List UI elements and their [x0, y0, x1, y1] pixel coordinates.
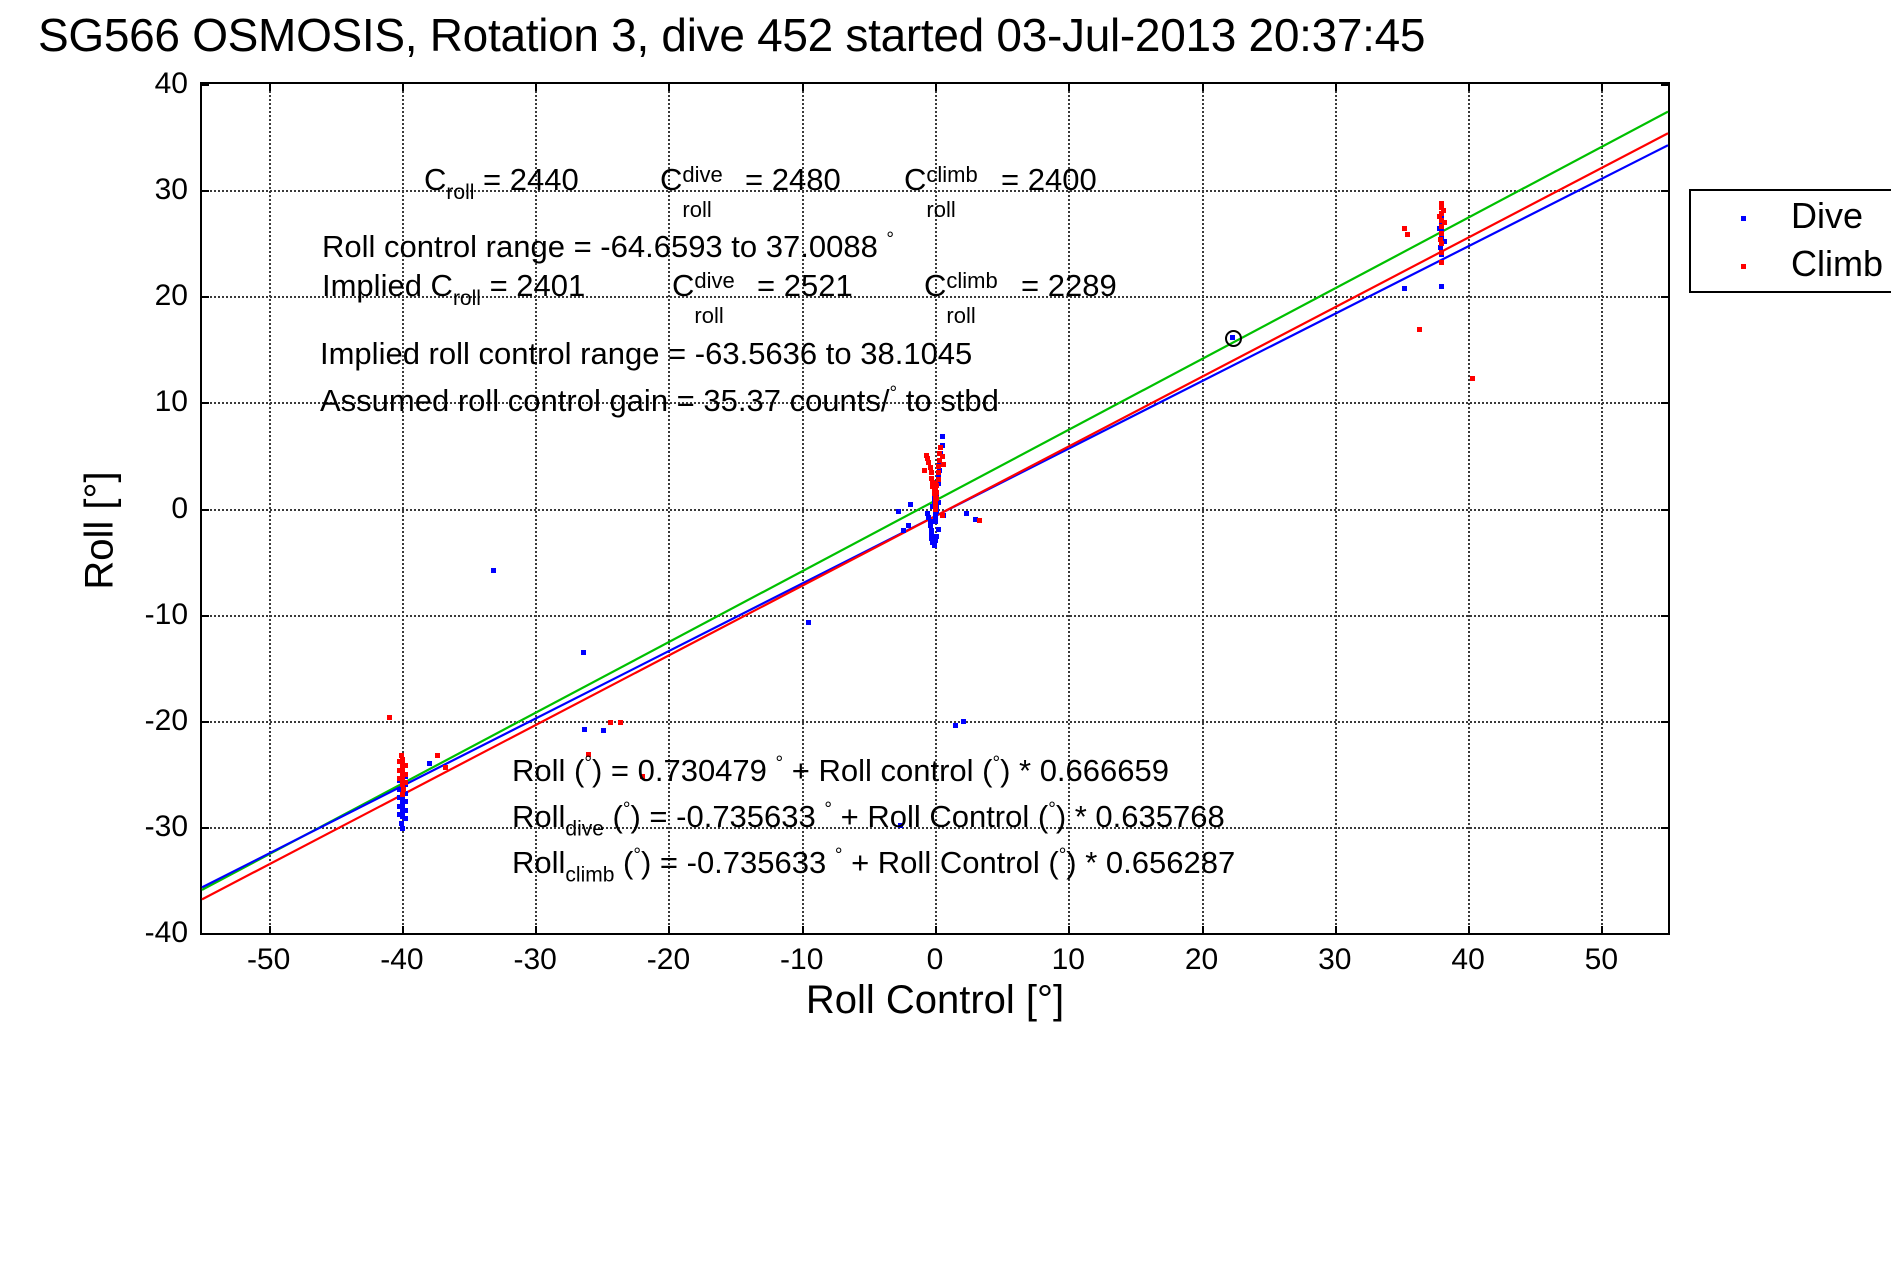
data-point	[435, 753, 440, 758]
legend-item-dive[interactable]: Dive	[1691, 193, 1891, 243]
x-tick-label: -50	[247, 943, 290, 977]
data-point	[1439, 241, 1444, 246]
data-point	[936, 464, 941, 469]
data-point	[601, 728, 606, 733]
y-tick-label: 20	[124, 279, 188, 313]
data-point	[427, 761, 432, 766]
data-point	[934, 496, 939, 501]
data-point	[938, 445, 943, 450]
data-point	[399, 753, 404, 758]
data-point	[953, 723, 958, 728]
equation-roll-dive: Rolldive (°) = -0.735633 ° + Roll Contro…	[512, 800, 1225, 840]
data-point	[936, 470, 941, 475]
y-tick-label: 10	[124, 385, 188, 419]
data-point	[936, 527, 941, 532]
data-point	[1442, 220, 1447, 225]
data-point	[400, 792, 405, 797]
data-point	[403, 808, 408, 813]
data-point	[964, 511, 969, 516]
equation-roll-climb: Rollclimb (°) = -0.735633 ° + Roll Contr…	[512, 846, 1235, 886]
x-tick-label: 0	[927, 943, 944, 977]
plot-area: Croll = 2440 Cdiveroll = 2480 Cclimbroll…	[200, 82, 1670, 935]
annotation-roll-control-range: Roll control range = -64.6593 to 37.0088…	[322, 230, 894, 262]
data-point	[929, 470, 934, 475]
y-axis-title: Roll [°]	[78, 371, 123, 691]
y-tick	[1661, 933, 1670, 935]
y-tick-label: -10	[124, 598, 188, 632]
y-tick-label: -40	[124, 916, 188, 950]
x-tick-label: 50	[1585, 943, 1618, 977]
data-point	[940, 434, 945, 439]
data-point	[1439, 250, 1444, 255]
data-point	[1402, 226, 1407, 231]
legend-marker-climb	[1741, 264, 1746, 269]
legend-label-dive: Dive	[1791, 195, 1863, 237]
x-tick-label: -30	[513, 943, 556, 977]
data-point	[581, 650, 586, 655]
data-point	[618, 720, 623, 725]
legend: Dive Climb	[1689, 189, 1891, 293]
data-point	[443, 765, 448, 770]
data-point	[933, 519, 938, 524]
highlight-marker	[1225, 330, 1242, 347]
x-tick-label: 10	[1052, 943, 1085, 977]
equation-roll-all: Roll (°) = 0.730479 ° + Roll control (°)…	[512, 754, 1169, 786]
data-point	[403, 763, 408, 768]
data-point	[608, 720, 613, 725]
annotation-croll: Croll = 2440	[424, 164, 579, 203]
x-tick-label: -20	[647, 943, 690, 977]
data-point	[933, 481, 938, 486]
data-point	[961, 719, 966, 724]
annotation-assumed-gain: Assumed roll control gain = 35.37 counts…	[320, 384, 999, 416]
x-tick-label: 20	[1185, 943, 1218, 977]
data-point	[1439, 224, 1444, 229]
annotation-implied-roll-control-range: Implied roll control range = -63.5636 to…	[320, 338, 972, 369]
annotation-croll-climb: Cclimbroll = 2400	[904, 164, 1097, 195]
data-point	[1470, 376, 1475, 381]
data-point	[403, 799, 408, 804]
legend-label-climb: Climb	[1791, 243, 1883, 285]
data-point	[1439, 201, 1444, 206]
data-point	[397, 768, 402, 773]
x-tick-label: -40	[380, 943, 423, 977]
legend-item-climb[interactable]: Climb	[1691, 241, 1891, 291]
page-title: SG566 OSMOSIS, Rotation 3, dive 452 star…	[38, 8, 1891, 62]
data-point	[977, 518, 982, 523]
data-point	[896, 509, 901, 514]
data-point	[397, 759, 402, 764]
annotation-implied-croll: Implied Croll = 2401	[322, 270, 585, 309]
data-point	[387, 715, 392, 720]
data-point	[400, 826, 405, 831]
data-point	[397, 812, 402, 817]
annotation-implied-croll-dive: Cdiveroll = 2521	[672, 270, 853, 301]
data-point	[1439, 284, 1444, 289]
data-point	[908, 502, 913, 507]
data-point	[1439, 231, 1444, 236]
x-tick-label: -10	[780, 943, 823, 977]
data-point	[901, 528, 906, 533]
data-point	[922, 468, 927, 473]
data-point	[1437, 214, 1442, 219]
data-point	[397, 776, 402, 781]
data-point	[941, 462, 946, 467]
data-point	[1439, 260, 1444, 265]
data-point	[403, 772, 408, 777]
x-tick-label: 40	[1451, 943, 1484, 977]
data-point	[1405, 232, 1410, 237]
data-point	[401, 787, 406, 792]
x-axis-title: Roll Control [°]	[200, 978, 1670, 1023]
data-point	[933, 507, 938, 512]
y-tick	[200, 933, 209, 935]
data-point	[926, 460, 931, 465]
data-point	[403, 780, 408, 785]
x-tick-label: 30	[1318, 943, 1351, 977]
data-point	[928, 465, 933, 470]
data-point	[399, 821, 404, 826]
data-point	[933, 486, 938, 491]
data-point	[932, 543, 937, 548]
data-point	[1417, 327, 1422, 332]
data-point	[925, 456, 930, 461]
data-point	[397, 804, 402, 809]
data-point	[582, 727, 587, 732]
data-point	[940, 454, 945, 459]
data-point	[1441, 208, 1446, 213]
y-tick-label: 40	[124, 67, 188, 101]
data-point	[491, 568, 496, 573]
y-tick-label: -30	[124, 810, 188, 844]
y-tick-label: 30	[124, 173, 188, 207]
data-point	[906, 523, 911, 528]
data-point	[1402, 286, 1407, 291]
data-point	[806, 620, 811, 625]
legend-marker-dive	[1741, 216, 1746, 221]
y-tick-label: -20	[124, 704, 188, 738]
y-tick-label: 0	[124, 492, 188, 526]
annotation-implied-croll-climb: Cclimbroll = 2289	[924, 270, 1117, 301]
annotation-croll-dive: Cdiveroll = 2480	[660, 164, 841, 195]
data-point	[940, 513, 945, 518]
